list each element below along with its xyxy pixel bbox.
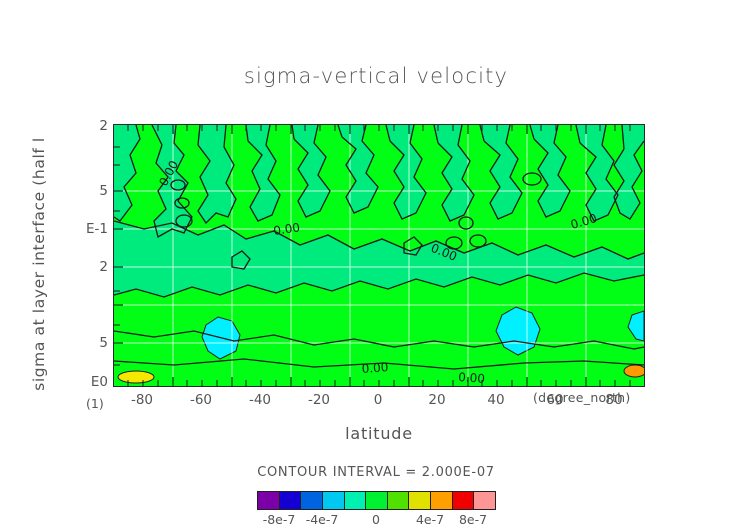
colorbar-tick-labels: -8e-7 -4e-7 0 4e-7 8e-7 bbox=[257, 512, 496, 530]
contour-label: 0.00 bbox=[458, 370, 486, 386]
x-axis-title: latitude bbox=[113, 424, 645, 443]
colorbar-cell-6 bbox=[388, 492, 410, 509]
colorbar-tick-2: 0 bbox=[349, 512, 403, 527]
colorbar-cell-4 bbox=[345, 492, 367, 509]
colorbar-cell-1 bbox=[280, 492, 302, 509]
contour-interval-caption: CONTOUR INTERVAL = 2.000E-07 bbox=[0, 465, 752, 480]
x-tick-6: 40 bbox=[466, 392, 526, 408]
y-axis-tick-labels: 2 5 E-1 2 5 E0 bbox=[62, 0, 108, 532]
colorbar-cell-10 bbox=[474, 492, 495, 509]
colorbar-tick-4: 8e-7 bbox=[446, 512, 500, 527]
x-tick-2: -40 bbox=[230, 392, 290, 408]
colorbar-cell-7 bbox=[409, 492, 431, 509]
colorbar-cell-3 bbox=[323, 492, 345, 509]
colorbar-cell-0 bbox=[258, 492, 280, 509]
y-tick-0: 2 bbox=[68, 118, 108, 134]
y-tick-4: 5 bbox=[68, 335, 108, 351]
contour-plot-area[interactable]: 0.00 0.00 0.00 0.00 0.00 0.00 bbox=[113, 124, 645, 387]
y-axis-units: (1) bbox=[86, 396, 104, 411]
y-tick-1: 5 bbox=[68, 183, 108, 199]
x-tick-3: -20 bbox=[289, 392, 349, 408]
y-axis-title: sigma at layer interface (half l bbox=[30, 104, 48, 424]
colorbar-cell-2 bbox=[301, 492, 323, 509]
x-tick-1: -60 bbox=[171, 392, 231, 408]
positive-cell-88N bbox=[624, 365, 644, 377]
colorbar[interactable] bbox=[257, 491, 496, 510]
y-tick-3: 2 bbox=[68, 259, 108, 275]
colorbar-cell-5 bbox=[366, 492, 388, 509]
contour-field: 0.00 0.00 0.00 0.00 0.00 0.00 bbox=[114, 125, 644, 386]
page-title: sigma-vertical velocity bbox=[0, 64, 752, 88]
y-tick-2: E-1 bbox=[68, 221, 108, 237]
colorbar-tick-1: -4e-7 bbox=[295, 512, 349, 527]
positive-cell-88S bbox=[118, 371, 154, 383]
contour-label: 0.00 bbox=[361, 360, 389, 376]
x-tick-5: 20 bbox=[407, 392, 467, 408]
colorbar-cell-8 bbox=[431, 492, 453, 509]
colorbar-cell-9 bbox=[453, 492, 475, 509]
x-tick-0: -80 bbox=[112, 392, 172, 408]
y-tick-5: E0 bbox=[68, 374, 108, 390]
x-tick-4: 0 bbox=[348, 392, 408, 408]
x-axis-units: (degree_north) bbox=[533, 390, 631, 405]
